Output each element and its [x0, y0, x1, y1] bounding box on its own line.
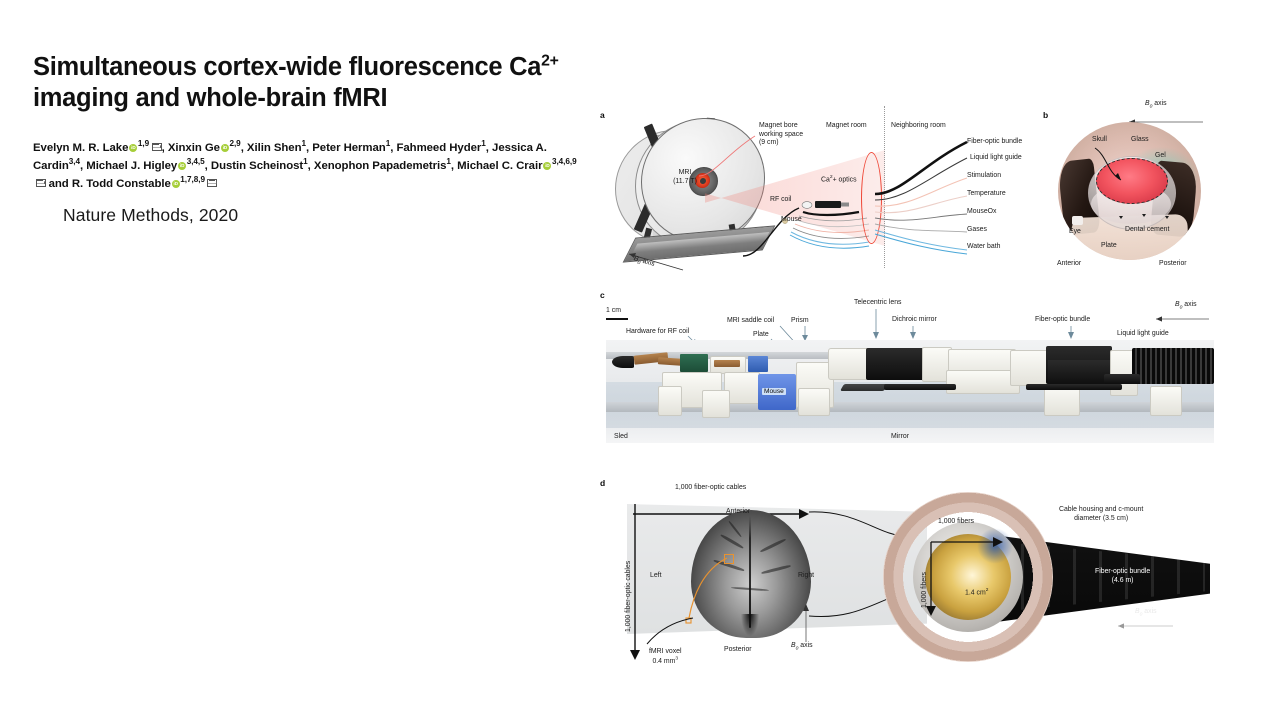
anterior-label-b: Anterior	[1057, 260, 1081, 269]
fibers-left-label: 1,000 fibers	[921, 572, 930, 608]
fiber-bundle-length-label: Fiber-optic bundle (4.6 m)	[1095, 568, 1150, 585]
posterior-label-b: Posterior	[1159, 260, 1187, 269]
fiber-face-measure-arrows	[925, 528, 1015, 624]
signal-label-water-bath: Water bath	[967, 243, 1000, 252]
author-name: Fahmeed Hyder	[396, 142, 481, 154]
skull-leader-line	[1091, 146, 1137, 186]
magnet-room-label: Magnet room	[826, 122, 867, 131]
author-name: Michael C. Crair	[457, 160, 542, 172]
panel-d: d 1,000 fiber-optic cables 1,000 fiber-o…	[595, 468, 1220, 685]
title-line-1: Simultaneous cortex-wide fluorescence Ca	[33, 53, 541, 81]
fmri-voxel-curve	[637, 608, 707, 648]
slide: Simultaneous cortex-wide fluorescence Ca…	[0, 0, 1280, 720]
author-affiliation: 3,4	[69, 157, 80, 166]
author-affiliation: 1,9	[138, 139, 149, 148]
rf-coil-label: RF coil	[770, 196, 791, 205]
fibers-top-label: 1,000 fibers	[938, 518, 974, 527]
b0-axis-arrow-d2	[1113, 620, 1179, 632]
mirror-label: Mirror	[891, 433, 909, 442]
left-label: Left	[650, 572, 662, 581]
author-affiliation: 1,7,8,9	[180, 175, 205, 184]
signal-label-stimulation: Stimulation	[967, 172, 1001, 181]
envelope-icon[interactable]	[36, 179, 46, 187]
author-affiliation: 3,4,5	[187, 157, 205, 166]
cables-top-arrow	[631, 496, 815, 518]
author-name: Michael J. Higley	[86, 160, 177, 172]
signal-label-fiber-optic-bundle: Fiber-optic bundle	[967, 138, 1022, 147]
panel-d-letter: d	[600, 478, 605, 488]
cable-housing-label: Cable housing and c-mount diameter (3.5 …	[1059, 506, 1143, 523]
title-superscript: 2+	[541, 53, 558, 70]
fmri-voxel-label: fMRI voxel 0.4 mm3	[649, 648, 682, 667]
panel-c: c 1 cm Hardware for RF coil MRI saddle c…	[595, 285, 1220, 460]
envelope-icon[interactable]	[152, 143, 162, 151]
panel-a: a MRI (11.7 T)	[595, 100, 1035, 280]
fiber-area-label: 1.4 cm2	[965, 588, 988, 598]
cables-left-label: 1,000 fiber-optic cables	[625, 561, 634, 632]
glass-label: Glass	[1131, 136, 1149, 145]
panel-b: b B0 axis Skull Glass Gel	[1035, 100, 1220, 280]
skull-label: Skull	[1092, 136, 1107, 145]
author-name: Dustin Scheinost	[211, 160, 303, 172]
mouse-label-c: Mouse	[762, 388, 786, 395]
mri-text: MRI	[679, 169, 692, 176]
author-name: Peter Herman	[312, 142, 385, 154]
sled-label: Sled	[614, 433, 628, 442]
author-name: Xinxin Ge	[168, 142, 220, 154]
envelope-icon[interactable]	[207, 179, 217, 187]
orcid-icon[interactable]	[172, 180, 180, 188]
cranial-window-photo	[1058, 122, 1201, 260]
magnet-bore-leader-line	[695, 130, 761, 178]
orcid-icon[interactable]	[221, 144, 229, 152]
author-name: Evelyn M. R. Lake	[33, 142, 128, 154]
fmri-voxel-size: 0.4 mm3	[652, 658, 678, 665]
page-title: Simultaneous cortex-wide fluorescence Ca…	[33, 52, 578, 114]
mouse-label-a: Mouse	[781, 216, 802, 225]
panel-b-b0-axis-label: B0 axis	[1145, 100, 1167, 109]
orcid-icon[interactable]	[129, 144, 137, 152]
author-affiliation: 2,9	[229, 139, 240, 148]
neighboring-room-label: Neighboring room	[891, 122, 946, 131]
orcid-icon[interactable]	[543, 162, 551, 170]
posterior-label-d: Posterior	[724, 646, 752, 655]
title-line-2: imaging and whole-brain fMRI	[33, 84, 387, 112]
cables-top-label: 1,000 fiber-optic cables	[675, 484, 746, 493]
signal-label-temperature: Temperature	[967, 190, 1006, 199]
gel-label: Gel	[1155, 152, 1166, 161]
author-list: Evelyn M. R. Lake1,9, Xinxin Ge2,9, Xili…	[33, 139, 578, 193]
author-name: Xenophon Papademetris	[314, 160, 447, 172]
panel-c-leader-lines	[595, 285, 1220, 345]
eye-label: Eye	[1069, 228, 1081, 237]
mri-field-text: (11.7 T)	[673, 178, 697, 185]
figure: a MRI (11.7 T)	[595, 100, 1220, 685]
orcid-icon[interactable]	[178, 162, 186, 170]
ca-optics-label: Ca2+ optics	[821, 175, 857, 185]
signal-label-mouseox: MouseOx	[967, 208, 997, 217]
journal-citation: Nature Methods, 2020	[63, 205, 238, 226]
author-separator: and	[46, 178, 72, 190]
panel-b-letter: b	[1043, 110, 1048, 120]
author-name: Xilin Shen	[247, 142, 302, 154]
panel-a-letter: a	[600, 110, 605, 120]
author-name: R. Todd Constable	[72, 178, 171, 190]
magnet-bore-label: Magnet bore working space (9 cm)	[759, 122, 803, 148]
signal-label-gases: Gases	[967, 226, 987, 235]
anterior-label-d: Anterior	[726, 508, 750, 517]
panel-d-b0-axis-label-right: B0 axis	[1135, 608, 1157, 617]
signal-label-liquid-light-guide: Liquid light guide	[970, 154, 1022, 163]
panel-c-b0-axis-label: B0 axis	[1175, 301, 1197, 310]
plate-label-b: Plate	[1101, 242, 1117, 251]
dental-cement-label: Dental cement	[1125, 226, 1169, 235]
author-affiliation: 3,4,6,9	[552, 157, 577, 166]
b0-axis-arrow-c	[1151, 313, 1213, 325]
apparatus-photo: Mouse	[606, 340, 1214, 443]
